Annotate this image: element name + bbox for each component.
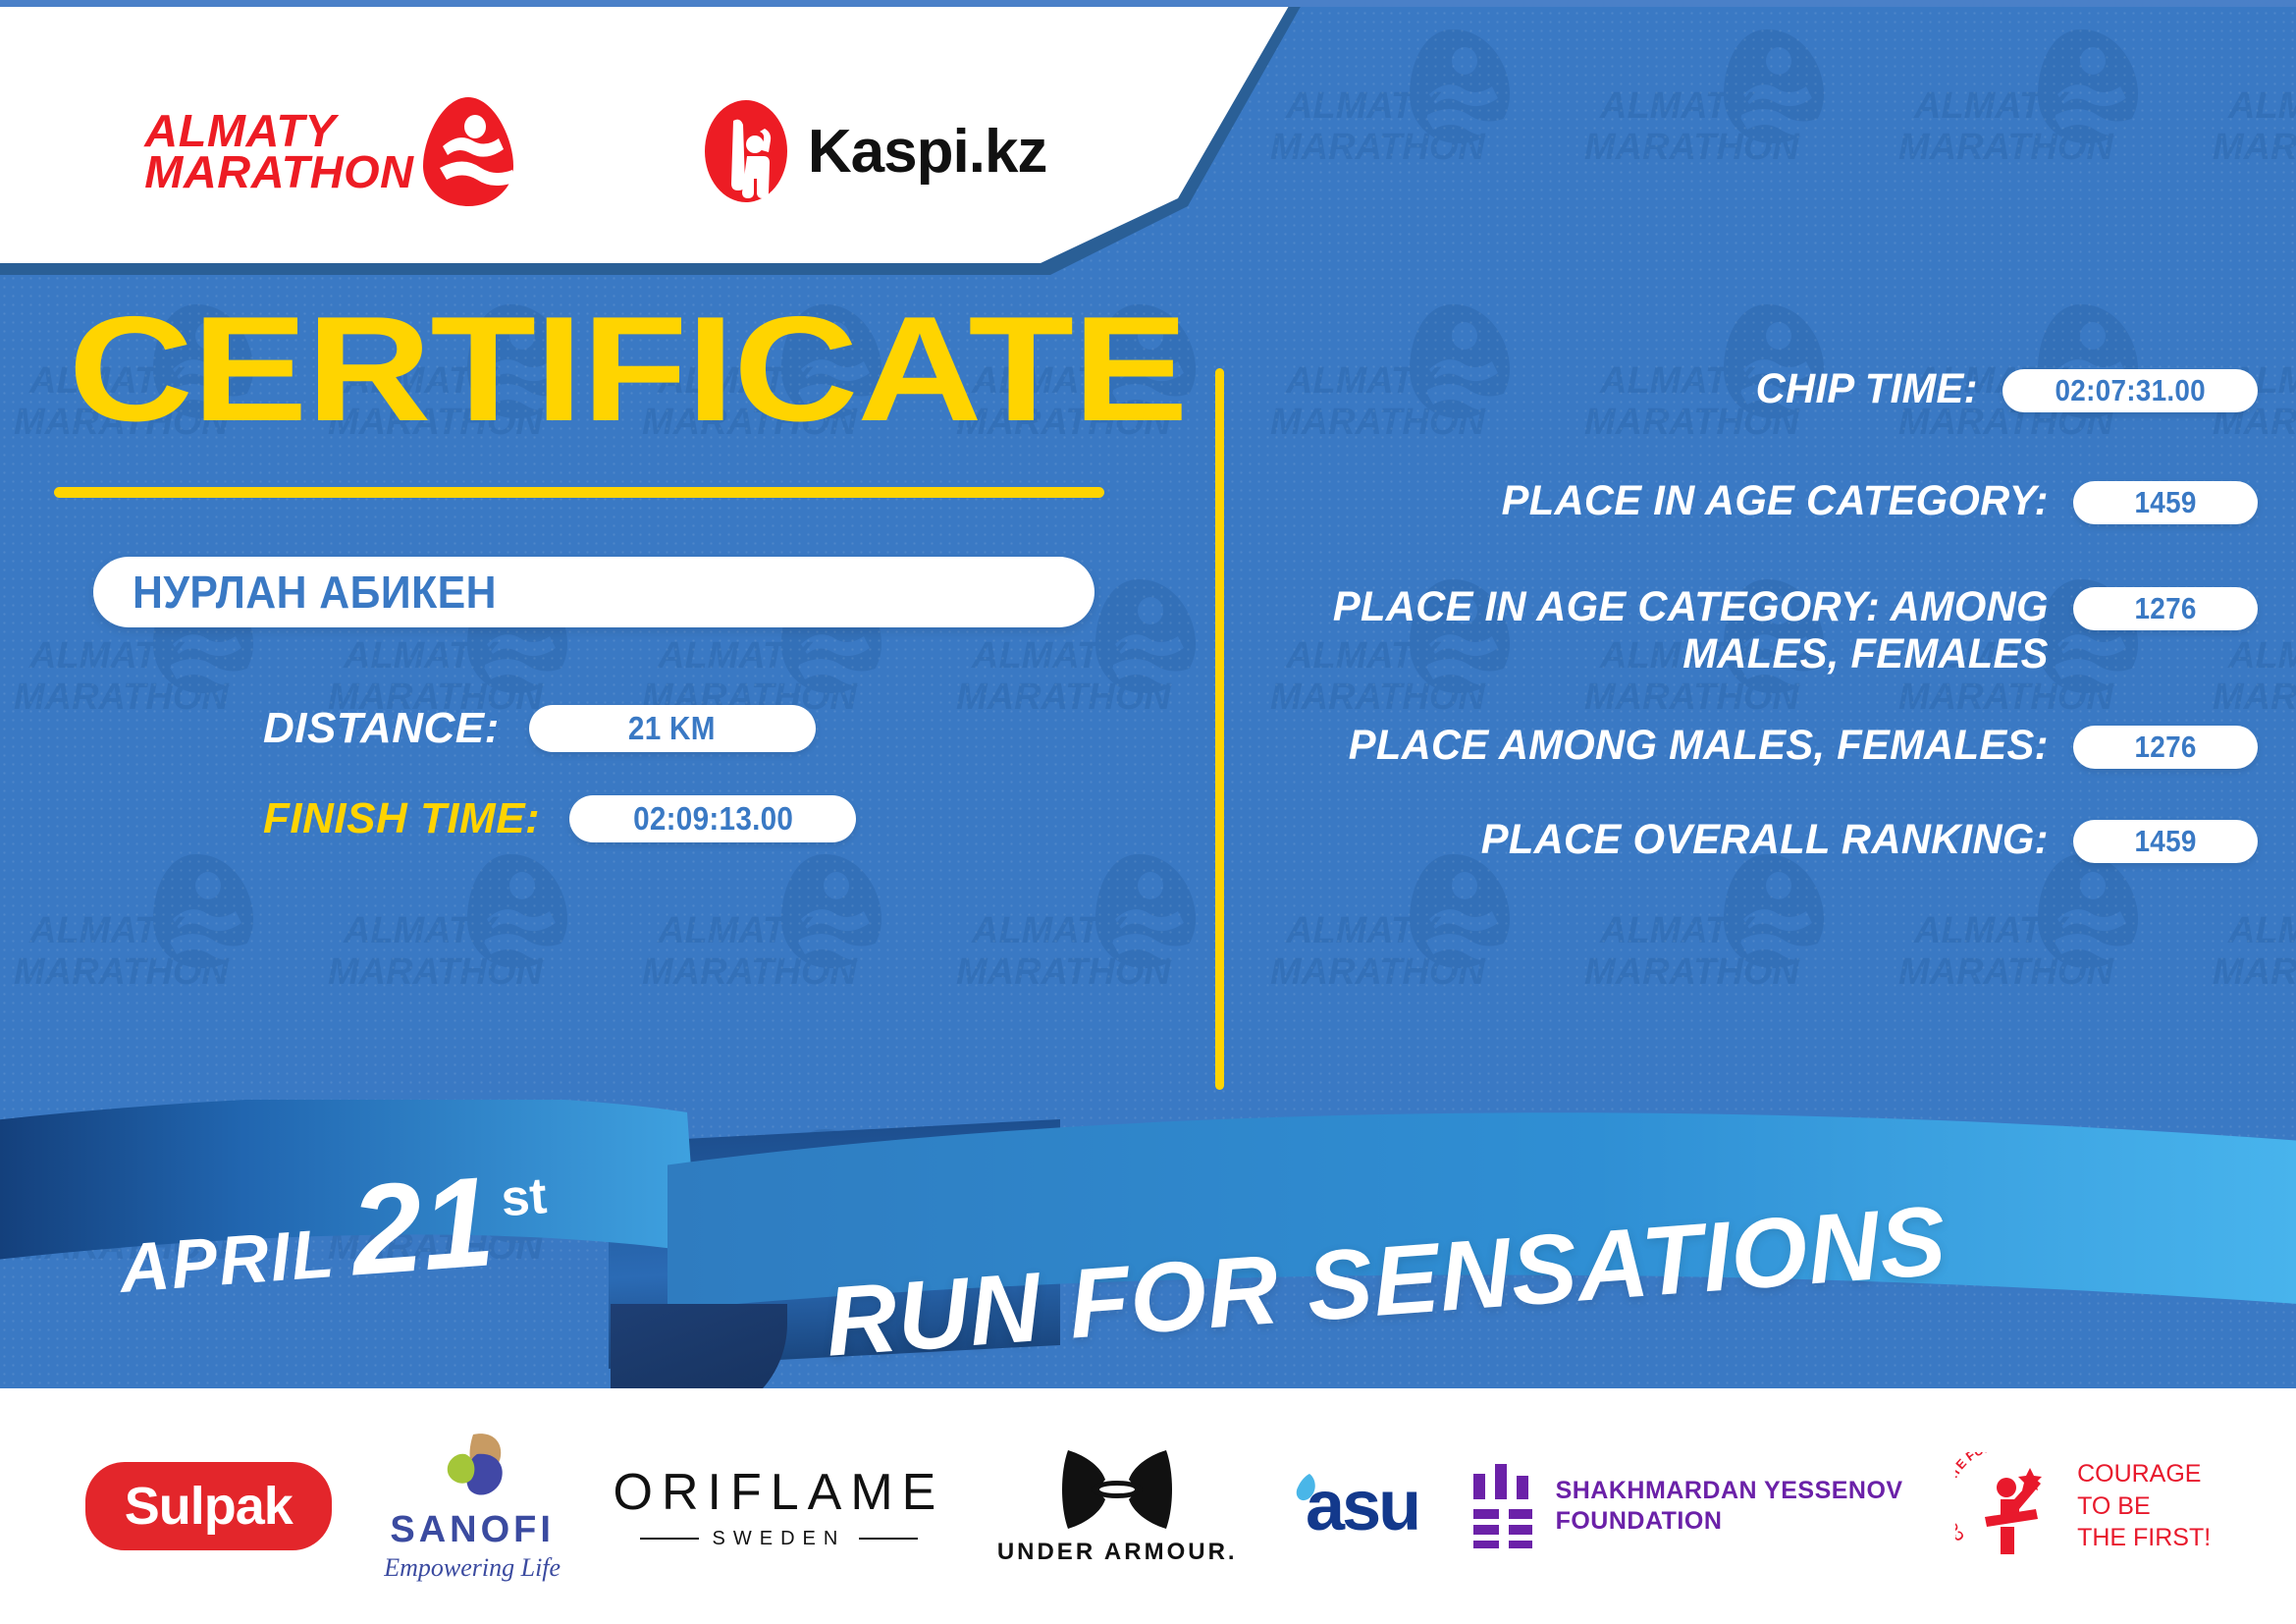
sponsor-corporate-fund: CORPORATE FUND COURAGE TO BE THE FIRST! bbox=[1955, 1452, 2211, 1560]
certificate-page: ALMATY MARATHON ALMATY MARATHON bbox=[0, 0, 2296, 1624]
under-armour-wordmark: UNDER ARMOUR. bbox=[997, 1539, 1238, 1566]
sponsor-asu: asu bbox=[1290, 1466, 1418, 1546]
chip-time-label: CHIP TIME: bbox=[1298, 365, 2002, 412]
top-accent-strip bbox=[0, 0, 2296, 7]
place-age-category-gender-value-pill: 1276 bbox=[2073, 587, 2258, 630]
sponsor-bar: Sulpak SANOFI Empowering Life ORIFLAME S… bbox=[0, 1388, 2296, 1624]
row-place-age-category: PLACE IN AGE CATEGORY: 1459 bbox=[1276, 477, 2258, 524]
yessenov-line1: SHAKHMARDAN YESSENOV bbox=[1556, 1476, 1903, 1506]
row-finish-time: FINISH TIME: 02:09:13.00 bbox=[0, 794, 1217, 843]
page-title: CERTIFICATE bbox=[0, 295, 1412, 444]
place-among-gender-value-pill: 1276 bbox=[2073, 726, 2258, 769]
chip-time-value-pill: 02:07:31.00 bbox=[2002, 369, 2258, 412]
row-distance: DISTANCE: 21 KM bbox=[0, 704, 1217, 753]
almaty-marathon-line1: ALMATY bbox=[144, 110, 413, 151]
oriflame-rule-left bbox=[640, 1538, 699, 1540]
sulpak-logo: Sulpak bbox=[85, 1462, 332, 1550]
sanofi-icon bbox=[430, 1431, 514, 1507]
almaty-marathon-logo: ALMATY MARATHON bbox=[147, 95, 517, 208]
courage-wordmark: COURAGE TO BE THE FIRST! bbox=[2077, 1458, 2211, 1554]
chip-time-value: 02:07:31.00 bbox=[2055, 373, 2205, 408]
under-armour-icon bbox=[1058, 1446, 1176, 1531]
place-among-gender-label: PLACE AMONG MALES, FEMALES: bbox=[1300, 722, 2073, 769]
courage-line3: THE FIRST! bbox=[2077, 1522, 2211, 1554]
corporate-fund-runner-icon: CORPORATE FUND bbox=[1955, 1452, 2063, 1560]
kaspi-logo: Kaspi.kz bbox=[704, 99, 1047, 203]
results-column: CHIP TIME: 02:07:31.00 PLACE IN AGE CATE… bbox=[1276, 365, 2258, 885]
row-place-overall: PLACE OVERALL RANKING: 1459 bbox=[1276, 816, 2258, 863]
place-overall-label: PLACE OVERALL RANKING: bbox=[1300, 816, 2073, 863]
place-age-category-gender-value: 1276 bbox=[2134, 591, 2196, 626]
almaty-marathon-drop-runner-icon bbox=[419, 95, 517, 208]
oriflame-rule-right bbox=[859, 1538, 918, 1540]
sponsor-under-armour: UNDER ARMOUR. bbox=[997, 1446, 1238, 1566]
event-ribbon: APRIL 21 st RUN FOR SENSATIONS bbox=[0, 1100, 2296, 1424]
vertical-divider bbox=[1215, 368, 1224, 1090]
distance-value: 21 KM bbox=[628, 710, 716, 747]
sulpak-wordmark: Sulpak bbox=[125, 1477, 293, 1536]
finish-time-value: 02:09:13.00 bbox=[633, 800, 793, 838]
distance-value-pill: 21 KM bbox=[529, 705, 816, 752]
certificate-left-column: CERTIFICATE НУРЛАН АБИКЕН DISTANCE: 21 K… bbox=[0, 295, 1217, 885]
yessenov-line2: FOUNDATION bbox=[1556, 1506, 1903, 1537]
place-age-category-label: PLACE IN AGE CATEGORY: bbox=[1300, 477, 2073, 524]
participant-name-field: НУРЛАН АБИКЕН bbox=[93, 557, 1095, 627]
sanofi-wordmark: SANOFI bbox=[390, 1509, 555, 1551]
kaspi-wordmark: Kaspi.kz bbox=[808, 117, 1047, 187]
asu-wordmark: asu bbox=[1306, 1466, 1418, 1546]
courage-line1: COURAGE bbox=[2077, 1458, 2211, 1490]
distance-label: DISTANCE: bbox=[263, 704, 500, 753]
header-content: ALMATY MARATHON bbox=[39, 20, 1315, 283]
sponsor-oriflame: ORIFLAME SWEDEN bbox=[614, 1463, 945, 1550]
svg-text:CORPORATE FUND: CORPORATE FUND bbox=[1955, 1452, 2002, 1544]
finish-time-label: FINISH TIME: bbox=[263, 794, 540, 843]
oriflame-tagline: SWEDEN bbox=[713, 1528, 846, 1550]
oriflame-wordmark: ORIFLAME bbox=[614, 1463, 945, 1522]
courage-line2: TO BE bbox=[2077, 1490, 2211, 1523]
yessenov-bars-icon bbox=[1471, 1464, 1534, 1548]
finish-time-value-pill: 02:09:13.00 bbox=[569, 795, 856, 842]
yessenov-wordmark: SHAKHMARDAN YESSENOV FOUNDATION bbox=[1556, 1476, 1903, 1538]
row-place-age-category-gender: PLACE IN AGE CATEGORY: AMONG MALES, FEMA… bbox=[1276, 583, 2258, 677]
place-overall-value: 1459 bbox=[2134, 824, 2196, 859]
corporate-fund-arc-text: CORPORATE FUND bbox=[1955, 1452, 2002, 1544]
sponsor-sulpak: Sulpak bbox=[85, 1462, 332, 1550]
certificate-detail-rows: DISTANCE: 21 KM FINISH TIME: 02:09:13.00 bbox=[0, 704, 1217, 843]
participant-name: НУРЛАН АБИКЕН bbox=[133, 566, 497, 619]
place-age-category-value: 1459 bbox=[2134, 485, 2196, 520]
event-day: 21 bbox=[347, 1157, 498, 1294]
sponsor-yessenov-foundation: SHAKHMARDAN YESSENOV FOUNDATION bbox=[1471, 1464, 1903, 1548]
oriflame-sweden-row: SWEDEN bbox=[640, 1528, 919, 1550]
place-overall-value-pill: 1459 bbox=[2073, 820, 2258, 863]
event-month: APRIL bbox=[117, 1214, 338, 1308]
sponsor-sanofi: SANOFI Empowering Life bbox=[384, 1431, 561, 1583]
event-day-ordinal: st bbox=[499, 1166, 549, 1228]
place-age-category-value-pill: 1459 bbox=[2073, 481, 2258, 524]
sanofi-tagline: Empowering Life bbox=[384, 1553, 561, 1583]
row-chip-time: CHIP TIME: 02:07:31.00 bbox=[1276, 365, 2258, 412]
row-place-among-gender: PLACE AMONG MALES, FEMALES: 1276 bbox=[1276, 722, 2258, 769]
place-age-category-gender-label: PLACE IN AGE CATEGORY: AMONG MALES, FEMA… bbox=[1300, 583, 2073, 677]
kaspi-person-icon bbox=[704, 99, 788, 203]
place-among-gender-value: 1276 bbox=[2134, 730, 2196, 765]
title-underline bbox=[54, 487, 1104, 498]
almaty-marathon-line2: MARATHON bbox=[144, 151, 413, 192]
